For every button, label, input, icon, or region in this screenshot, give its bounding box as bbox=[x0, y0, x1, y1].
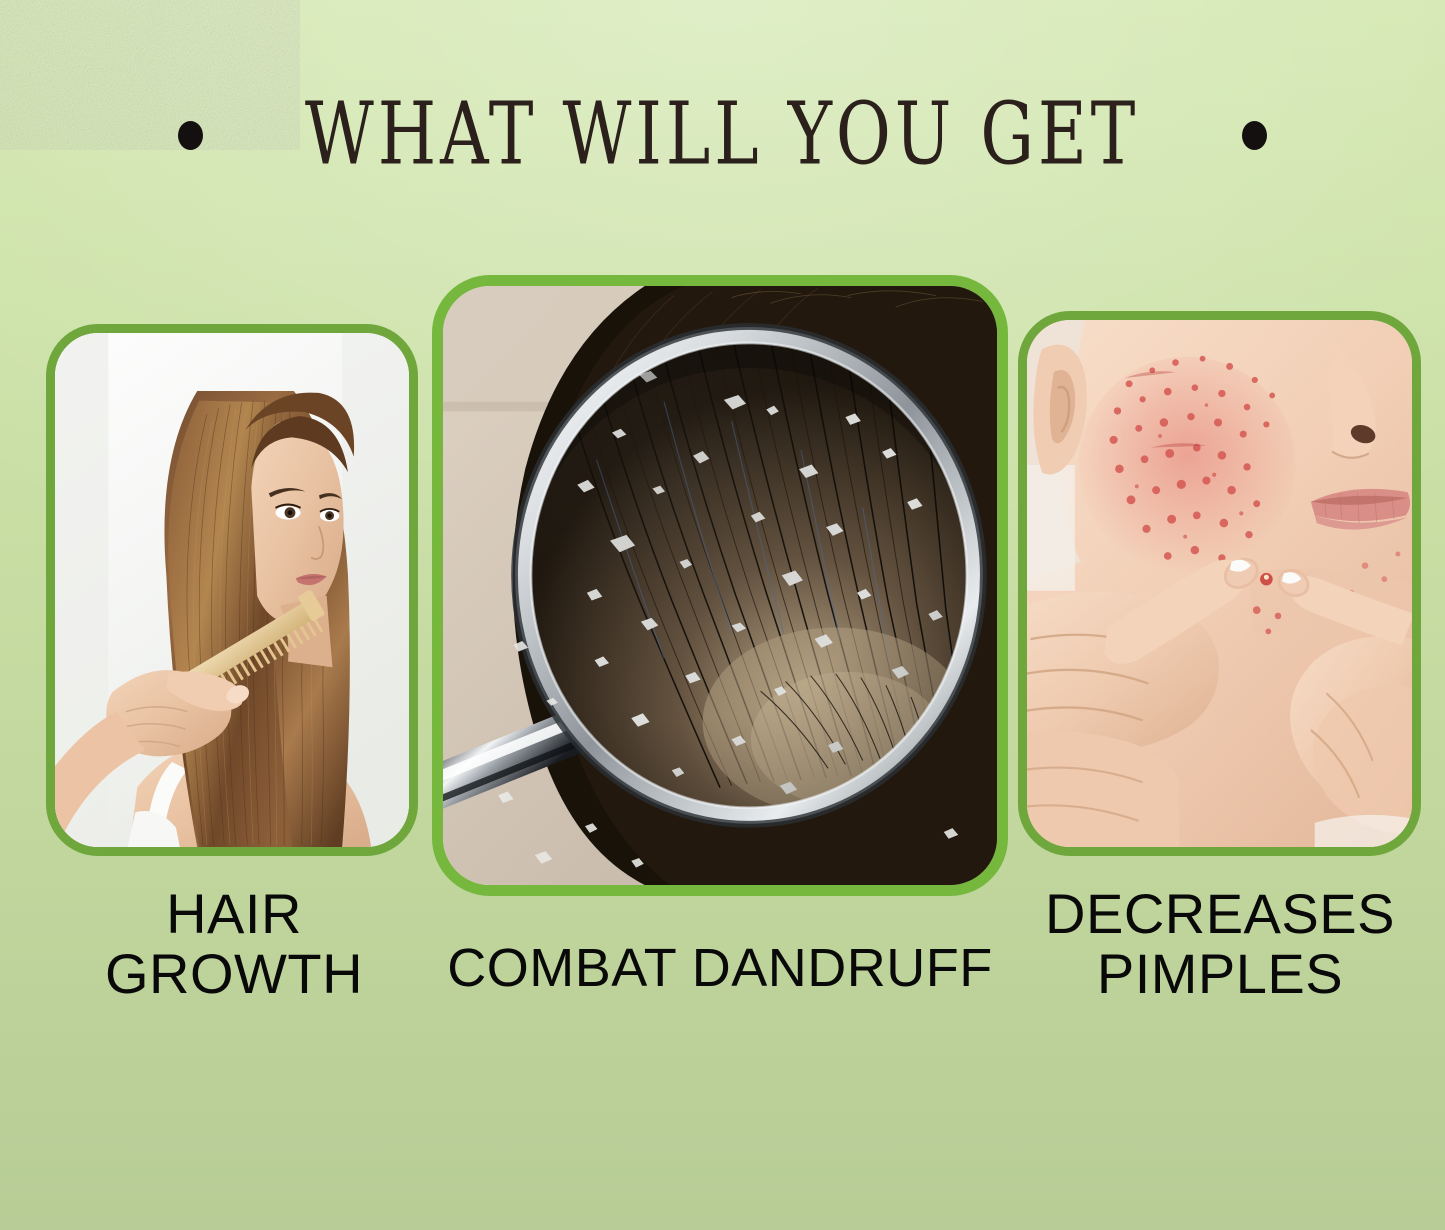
page-title: WHAT WILL YOU GET bbox=[305, 92, 1139, 178]
card-combat-dandruff[interactable] bbox=[432, 275, 1008, 896]
combat-dandruff-photo bbox=[443, 286, 997, 885]
hair-growth-photo bbox=[55, 333, 409, 847]
bullet-dot-right-icon bbox=[1242, 121, 1267, 150]
card-hair-growth[interactable] bbox=[46, 324, 418, 856]
caption-hair-growth: HAIR GROWTH bbox=[38, 884, 430, 1004]
caption-combat-dandruff: COMBAT DANDRUFF bbox=[420, 940, 1020, 998]
decreases-pimples-photo bbox=[1027, 320, 1412, 847]
poster-canvas: WHAT WILL YOU GET bbox=[0, 0, 1445, 1230]
page-title-row: WHAT WILL YOU GET bbox=[0, 92, 1445, 178]
caption-decreases-pimples: DECREASES PIMPLES bbox=[1006, 884, 1434, 1004]
bullet-dot-left-icon bbox=[178, 121, 203, 150]
card-decreases-pimples[interactable] bbox=[1018, 311, 1421, 856]
